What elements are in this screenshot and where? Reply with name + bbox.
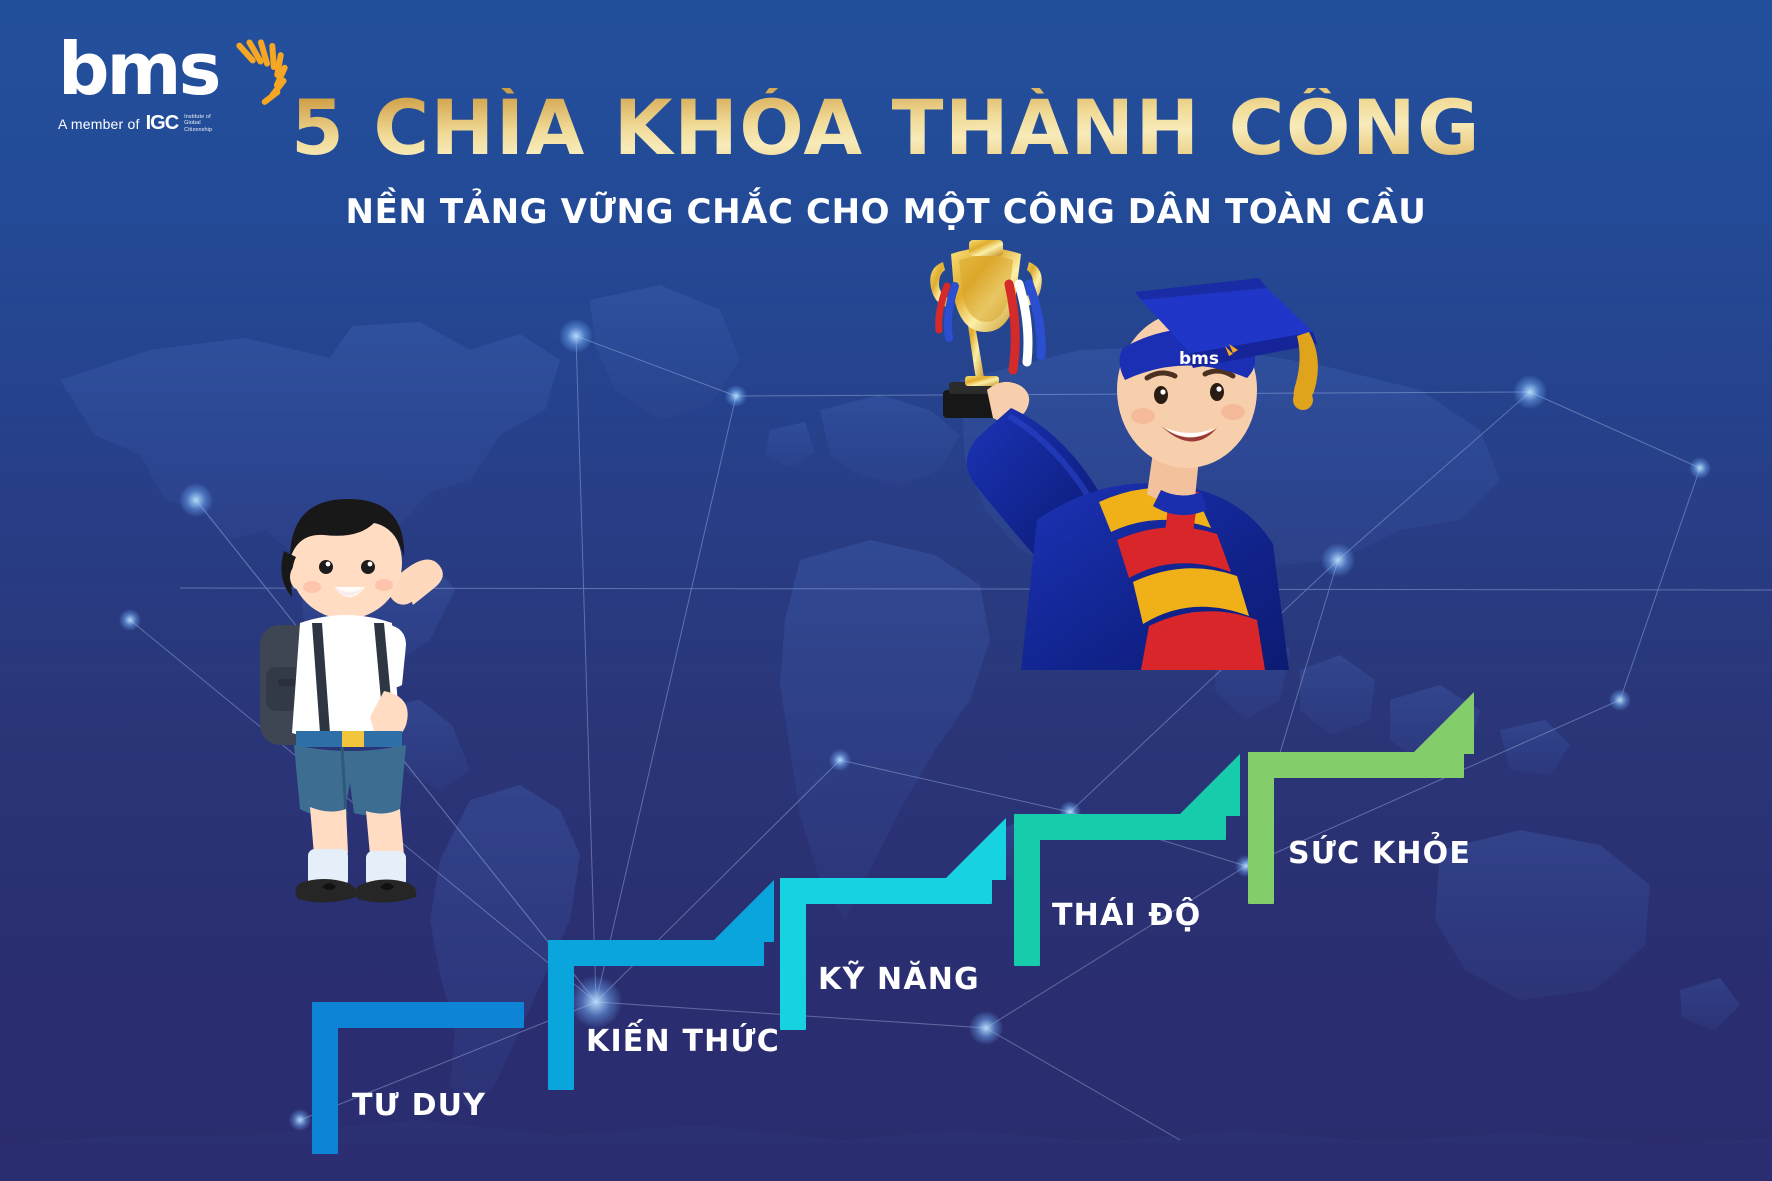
step-bar-5: [1248, 752, 1464, 778]
staircase-chart: TƯ DUYKIẾN THỨCKỸ NĂNGTHÁI ĐỘSỨC KHỎE: [0, 0, 1772, 1181]
step-leg-2: [548, 940, 574, 1090]
step-leg-4: [1014, 814, 1040, 966]
step-leg-1: [312, 1002, 338, 1154]
step-triangle-4: [1178, 754, 1240, 816]
step-triangle-3: [944, 818, 1006, 880]
step-label-2: KIẾN THỨC: [586, 1024, 780, 1059]
step-bar-3: [780, 878, 992, 904]
step-leg-5: [1248, 752, 1274, 904]
step-bar-2: [548, 940, 764, 966]
step-leg-3: [780, 878, 806, 1030]
infographic-poster: bms A member of IGC Institute of Global …: [0, 0, 1772, 1181]
step-triangle-5: [1412, 692, 1474, 754]
step-label-4: THÁI ĐỘ: [1052, 898, 1201, 933]
step-label-5: SỨC KHỎE: [1288, 836, 1471, 871]
step-bar-1: [312, 1002, 524, 1028]
step-label-1: TƯ DUY: [352, 1088, 486, 1123]
step-label-3: KỸ NĂNG: [818, 962, 980, 997]
step-triangle-2: [712, 880, 774, 942]
step-bar-4: [1014, 814, 1226, 840]
